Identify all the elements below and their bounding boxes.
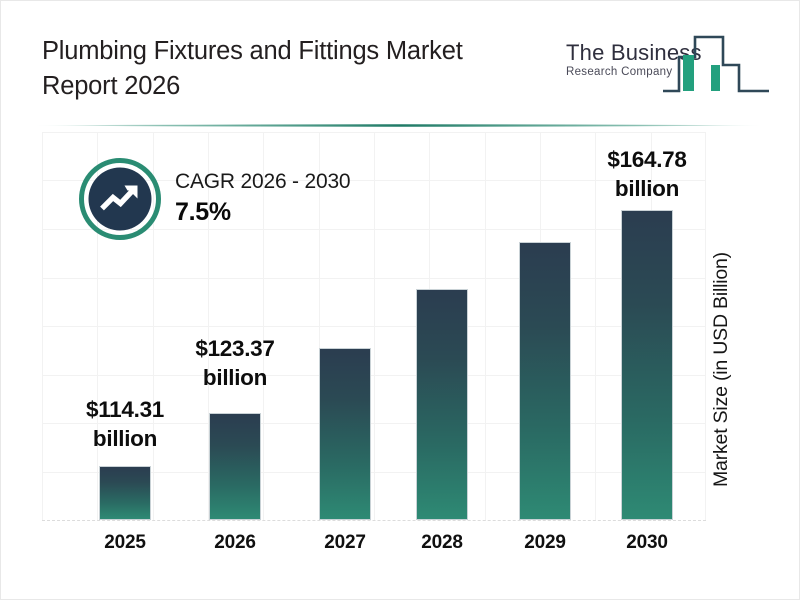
bar-chart-outline-icon bbox=[661, 29, 771, 101]
value-label-2026: $123.37 billion bbox=[165, 334, 305, 392]
xtick-2027: 2027 bbox=[295, 532, 395, 554]
value-label-2030-unit: billion bbox=[577, 174, 717, 203]
header-divider bbox=[31, 123, 771, 128]
bar-2026[interactable] bbox=[209, 413, 261, 520]
bar-2025[interactable] bbox=[99, 466, 151, 520]
gridline-horizontal bbox=[42, 278, 706, 279]
bar-2027[interactable] bbox=[319, 348, 371, 520]
cagr-icon-circle bbox=[79, 158, 161, 240]
company-logo: The Business Research Company bbox=[561, 29, 776, 101]
y-axis-title: Market Size (in USD Billion) bbox=[708, 219, 734, 519]
value-label-2026-unit: billion bbox=[165, 363, 305, 392]
xtick-2025: 2025 bbox=[75, 532, 175, 554]
gridline-horizontal bbox=[42, 132, 706, 133]
bar-2030[interactable] bbox=[621, 210, 673, 520]
bar-2028[interactable] bbox=[416, 289, 468, 520]
xtick-2026: 2026 bbox=[185, 532, 285, 554]
xtick-2028: 2028 bbox=[392, 532, 492, 554]
chart-infographic: Plumbing Fixtures and Fittings Market Re… bbox=[0, 0, 800, 600]
x-axis-line bbox=[42, 520, 706, 521]
value-label-2025-amount: $114.31 bbox=[55, 395, 195, 424]
gridline-horizontal bbox=[42, 326, 706, 327]
cagr-text-block: CAGR 2026 - 2030 7.5% bbox=[175, 168, 389, 228]
gridline-horizontal bbox=[42, 375, 706, 376]
header: Plumbing Fixtures and Fittings Market Re… bbox=[1, 1, 800, 119]
value-label-2025: $114.31 billion bbox=[55, 395, 195, 453]
value-label-2030-amount: $164.78 bbox=[577, 145, 717, 174]
bar-2029[interactable] bbox=[519, 242, 571, 520]
xtick-2030: 2030 bbox=[597, 532, 697, 554]
cagr-range-label: CAGR 2026 - 2030 bbox=[175, 168, 389, 196]
cagr-value-label: 7.5% bbox=[175, 196, 389, 228]
y-axis-title-text: Market Size (in USD Billion) bbox=[710, 252, 733, 487]
value-label-2025-unit: billion bbox=[55, 424, 195, 453]
value-label-2030: $164.78 billion bbox=[577, 145, 717, 203]
cagr-badge: CAGR 2026 - 2030 7.5% bbox=[79, 156, 389, 244]
value-label-2026-amount: $123.37 bbox=[165, 334, 305, 363]
xtick-2029: 2029 bbox=[495, 532, 595, 554]
page-title: Plumbing Fixtures and Fittings Market Re… bbox=[42, 34, 532, 104]
